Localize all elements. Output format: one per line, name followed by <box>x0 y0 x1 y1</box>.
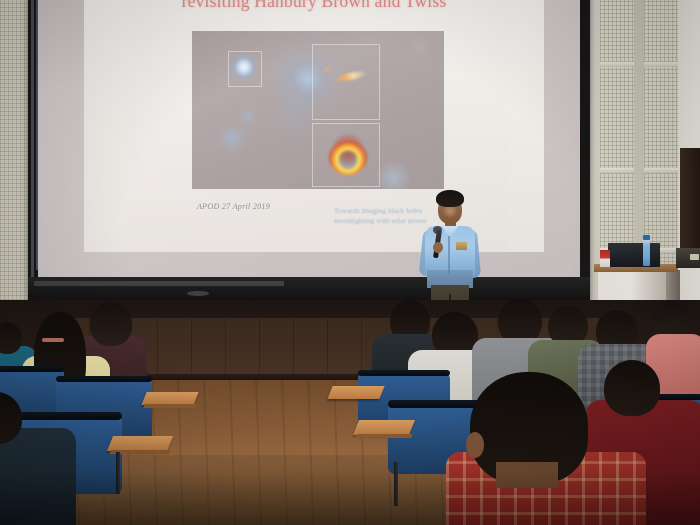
person-dark-red-tee-head <box>604 360 660 416</box>
chair-right-mid-tablet-edge <box>355 434 413 438</box>
chair-right-back-top <box>358 370 450 376</box>
galaxy-core <box>230 53 258 81</box>
water-bottle <box>643 238 650 266</box>
water-bottle-cap <box>643 235 650 240</box>
person-red-plaid-ear <box>466 432 484 458</box>
person-red-plaid-neck <box>496 462 558 488</box>
presenter-shirt-placket <box>448 234 450 274</box>
chair-left-front-top <box>10 412 122 420</box>
chair-left-front-leg <box>116 452 120 494</box>
screen-bottom-lip <box>34 281 284 286</box>
chair-left-front-tablet <box>107 436 173 451</box>
slide-title: Interferometry with incoherent light: re… <box>84 0 544 12</box>
hair-clip <box>42 338 64 342</box>
slide-figure <box>192 31 444 189</box>
person-maroon-tee-head <box>90 302 132 346</box>
laptop <box>608 243 660 267</box>
presenter <box>418 186 482 318</box>
chair-left-mid-tablet-edge <box>143 404 197 408</box>
screen-left-edge <box>36 0 38 270</box>
screen-frame-highlight <box>31 0 34 292</box>
screen-roller-notch <box>187 291 209 296</box>
slide-credit: APOD 27 April 2019 <box>197 202 270 211</box>
jet-inset-box <box>312 44 380 120</box>
red-container <box>600 250 610 267</box>
person-foreground-left-torso <box>0 428 76 525</box>
projection-screen: Interferometry with incoherent light: re… <box>38 0 580 277</box>
chair-right-back-tablet <box>327 386 384 399</box>
chair-left-back-top <box>0 366 64 372</box>
presenter-hand <box>433 242 443 253</box>
black-hole-ring <box>328 135 368 175</box>
chair-right-mid-tablet <box>353 420 415 435</box>
presenter-hair <box>436 190 464 207</box>
far-monitor-glow <box>690 254 699 260</box>
chair-left-mid-top <box>56 376 152 382</box>
lecture-hall-photo: Interferometry with incoherent light: re… <box>0 0 700 525</box>
presenter-shirt-pocket <box>456 242 467 250</box>
chair-right-mid-leg <box>394 462 398 506</box>
